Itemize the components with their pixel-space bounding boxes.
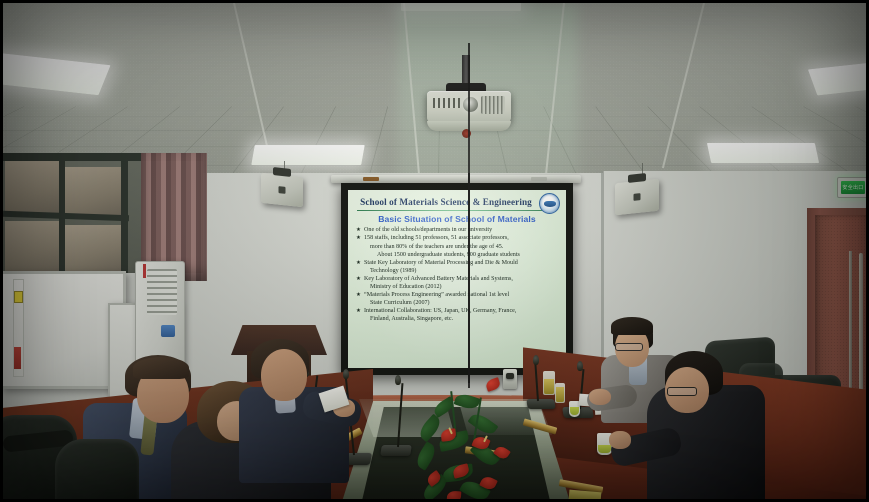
slide-bullet: Key Laboratory of Advanced Battery Mater… [355, 276, 559, 284]
air-conditioner-indicator [143, 264, 146, 278]
projector-lens-icon [463, 97, 478, 112]
eyeglasses-icon [667, 387, 697, 396]
projector-vent [481, 96, 505, 114]
cable-over-screen [468, 173, 470, 388]
jar-tea [544, 379, 554, 394]
slide-header: School of Materials Science & Engineerin… [355, 197, 559, 207]
control-unit[interactable] [503, 369, 517, 389]
air-conditioner-badge [161, 325, 175, 337]
wall-speaker-left [261, 173, 303, 207]
whiteboard-red-marker [14, 347, 21, 369]
air-conditioner-vent [147, 269, 177, 315]
slide-bullet-line: About 1500 undergraduate students, 900 g… [355, 252, 559, 260]
window-mullion [121, 153, 128, 273]
slide-bullet-line: Finland, Australia, Singapore, etc. [355, 316, 559, 324]
cup-tea [570, 407, 579, 415]
microphone-head [577, 361, 583, 371]
speaker-driver-icon [279, 186, 286, 194]
person-head [261, 349, 307, 401]
leather-office-chair[interactable] [55, 439, 139, 502]
microphone-head [533, 355, 539, 365]
microphone-head [343, 369, 349, 379]
person-hand [609, 431, 631, 449]
presentation-slide: School of Materials Science & Engineerin… [348, 190, 566, 368]
ceiling-light-panel [401, 3, 521, 11]
window-pane [5, 161, 59, 215]
slide-bullet-list: One of the old schools/departments in ou… [355, 227, 559, 324]
slide-bullet: State Key Laboratory of Material Process… [355, 260, 559, 268]
window-pane [65, 225, 123, 273]
jar-tea [556, 387, 564, 402]
projector-control-panel [433, 98, 461, 108]
speaker-driver-icon [634, 193, 641, 201]
speaker-bracket [628, 173, 646, 183]
slide-bullet: One of the old schools/departments in ou… [355, 227, 559, 235]
glass-tea-jar[interactable] [543, 371, 555, 395]
meeting-room-photo: 安全出口 School of Materials Science & Engin… [0, 0, 869, 502]
ceiling-light-panel [707, 143, 819, 163]
window-pane [65, 167, 123, 219]
projection-screen-case [331, 175, 581, 183]
microphone-base[interactable] [526, 399, 555, 409]
slide-bullet-line: more than 80% of the teachers are under … [355, 244, 559, 252]
cup-tea [598, 445, 611, 453]
person-hair-front [611, 317, 653, 335]
exit-sign-label: 安全出口 [841, 181, 865, 194]
emergency-exit-sign: 安全出口 [837, 177, 869, 198]
microphone-head [395, 375, 401, 385]
person-hair-front [133, 357, 189, 379]
slide-bullet: International Collaboration: US, Japan, … [355, 308, 559, 316]
speaker-bracket [273, 167, 291, 177]
control-unit-screen [506, 373, 514, 379]
slide-bullet-line: State Curriculum (2007) [355, 300, 559, 308]
projection-screen: School of Materials Science & Engineerin… [341, 183, 573, 375]
screen-case-cap [531, 177, 547, 181]
eyeglasses-icon [615, 343, 643, 351]
slide-divider [357, 210, 557, 211]
window-pane [5, 221, 59, 273]
wall-speaker-right [615, 179, 659, 216]
warning-label-icon [14, 291, 23, 303]
slide-bullet: “Materials Process Engineering” awarded … [355, 292, 559, 300]
document-paper[interactable] [569, 490, 602, 502]
university-seal-logo [539, 193, 560, 214]
screen-case-cap [363, 177, 379, 181]
person-hand [589, 389, 611, 405]
ceiling-light-panel [251, 145, 365, 165]
glass-tea-jar[interactable] [555, 383, 565, 403]
slide-bullet-line: Technology (1989) [355, 268, 559, 276]
anthurium-bloom [447, 491, 462, 502]
slide-bullet-line: Ministry of Education (2012) [355, 284, 559, 292]
slide-bullet: 158 staffs, including 51 professors, 51 … [355, 235, 559, 243]
slide-subtitle: Basic Situation of School of Materials [355, 214, 559, 224]
